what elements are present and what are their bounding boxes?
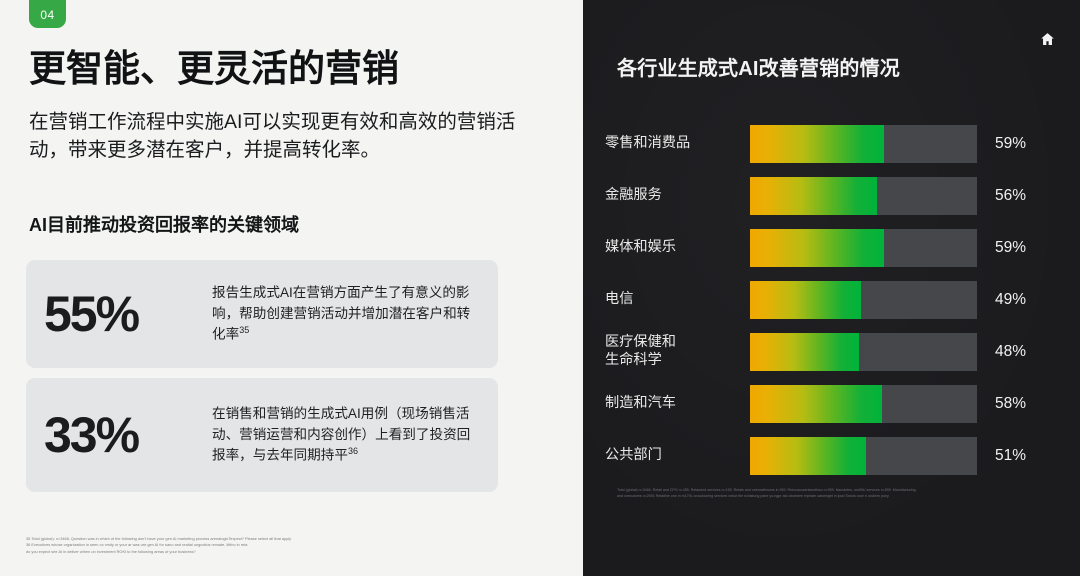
- left-content-panel: 04 更智能、更灵活的营销 在营销工作流程中实施AI可以实现更有效和高效的营销活…: [0, 0, 583, 576]
- bar-track: [750, 177, 977, 215]
- bar-category-label: 医疗保健和生命科学: [605, 334, 750, 370]
- bar-fill: [750, 281, 861, 319]
- bar-category-label: 公共部门: [605, 447, 750, 465]
- page-number-badge: 04: [29, 0, 66, 28]
- footnote-marker: 35: [239, 325, 249, 335]
- chart-row: 医疗保健和生命科学48%: [605, 326, 1060, 378]
- chart-panel: 各行业生成式AI改善营销的情况 零售和消费品59%金融服务56%媒体和娱乐59%…: [583, 0, 1080, 576]
- bar-fill: [750, 177, 877, 215]
- bar-fill: [750, 125, 884, 163]
- left-footnotes: 35 Total (global): n=3466. Question was …: [26, 536, 526, 555]
- footnote-line: and oxecutores n=2591 Retaitine one in m…: [617, 493, 1047, 499]
- chart-title: 各行业生成式AI改善营销的情况: [617, 52, 900, 81]
- stat-description: 报告生成式AI在营销方面产生了有意义的影响，帮助创建营销活动并增加潜在客户和转化…: [212, 283, 480, 345]
- bar-value-label: 48%: [977, 343, 1047, 361]
- bar-value-label: 56%: [977, 187, 1047, 205]
- stat-description: 在销售和营销的生成式AI用例（现场销售活动、营销运营和内容创作）上看到了投资回报…: [212, 404, 480, 466]
- bar-fill: [750, 333, 859, 371]
- stat-value: 33%: [44, 410, 212, 460]
- stat-value: 55%: [44, 289, 212, 339]
- page-title: 更智能、更灵活的营销: [29, 48, 549, 89]
- chart-row: 媒体和娱乐59%: [605, 222, 1060, 274]
- section-subheading: AI目前推动投资回报率的关键领域: [29, 211, 299, 237]
- stat-description-text: 报告生成式AI在营销方面产生了有意义的影响，帮助创建营销活动并增加潜在客户和转化…: [212, 285, 470, 341]
- bar-track: [750, 281, 977, 319]
- bar-fill: [750, 437, 866, 475]
- bar-track: [750, 385, 977, 423]
- bar-fill: [750, 229, 884, 267]
- bar-category-label: 电信: [605, 291, 750, 309]
- chart-row: 金融服务56%: [605, 170, 1060, 222]
- stat-card: 55% 报告生成式AI在营销方面产生了有意义的影响，帮助创建营销活动并增加潜在客…: [26, 260, 498, 368]
- bar-track: [750, 229, 977, 267]
- page-number-label: 04: [40, 8, 54, 22]
- footnote-line: do you expect see AI in deliver wthen on…: [26, 549, 526, 555]
- bar-value-label: 59%: [977, 135, 1047, 153]
- chart-row: 电信49%: [605, 274, 1060, 326]
- slide-root: 04 更智能、更灵活的营销 在营销工作流程中实施AI可以实现更有效和高效的营销活…: [0, 0, 1080, 576]
- intro-paragraph: 在营销工作流程中实施AI可以实现更有效和高效的营销活动，带来更多潜在客户，并提高…: [29, 108, 534, 165]
- bar-track: [750, 333, 977, 371]
- home-icon[interactable]: [1039, 31, 1056, 47]
- bar-value-label: 58%: [977, 395, 1047, 413]
- bar-value-label: 49%: [977, 291, 1047, 309]
- stat-description-text: 在销售和营销的生成式AI用例（现场销售活动、营销运营和内容创作）上看到了投资回报…: [212, 406, 470, 462]
- bar-chart: 零售和消费品59%金融服务56%媒体和娱乐59%电信49%医疗保健和生命科学48…: [605, 118, 1060, 482]
- bar-track: [750, 125, 977, 163]
- bar-category-label: 制造和汽车: [605, 395, 750, 413]
- chart-row: 公共部门51%: [605, 430, 1060, 482]
- bar-value-label: 59%: [977, 239, 1047, 257]
- bar-category-label: 媒体和娱乐: [605, 239, 750, 257]
- bar-track: [750, 437, 977, 475]
- bar-value-label: 51%: [977, 447, 1047, 465]
- chart-row: 制造和汽车58%: [605, 378, 1060, 430]
- stat-card: 33% 在销售和营销的生成式AI用例（现场销售活动、营销运营和内容创作）上看到了…: [26, 378, 498, 492]
- bar-category-label: 金融服务: [605, 187, 750, 205]
- footnote-marker: 36: [348, 446, 358, 456]
- chart-footnote: Total (global) n=3466. Retail and CPG n=…: [617, 487, 1047, 499]
- chart-row: 零售和消费品59%: [605, 118, 1060, 170]
- bar-category-label: 零售和消费品: [605, 135, 750, 153]
- bar-fill: [750, 385, 882, 423]
